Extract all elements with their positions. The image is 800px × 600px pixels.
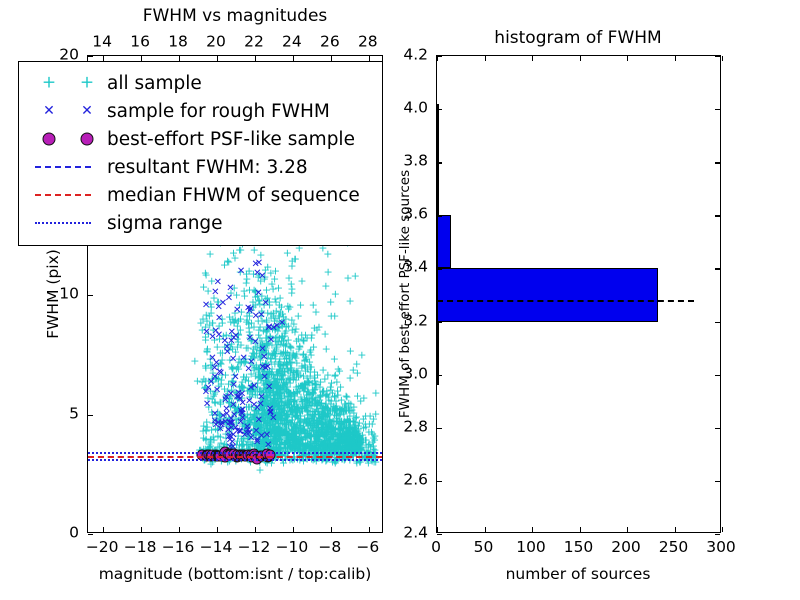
all-sample-point: +	[233, 404, 242, 415]
all-sample-point: +	[309, 388, 318, 399]
all-sample-point: +	[270, 422, 279, 433]
all-sample-point: +	[297, 434, 306, 445]
all-sample-point: +	[296, 420, 305, 431]
all-sample-point: +	[300, 413, 309, 424]
all-sample-point: +	[259, 434, 268, 445]
all-sample-point: +	[262, 340, 271, 351]
all-sample-point: +	[280, 390, 289, 401]
all-sample-point: +	[364, 440, 373, 451]
legend-item-label: median FHWM of sequence	[107, 185, 360, 206]
all-sample-point: +	[200, 382, 209, 393]
all-sample-point: +	[324, 420, 333, 431]
all-sample-point: +	[272, 415, 281, 426]
all-sample-point: +	[303, 439, 312, 450]
all-sample-point: +	[328, 416, 337, 427]
all-sample-point: +	[344, 428, 353, 439]
rough-sample-point: ✕	[212, 359, 220, 369]
all-sample-point: +	[338, 441, 347, 452]
all-sample-point: +	[265, 299, 274, 310]
all-sample-point: +	[307, 332, 316, 343]
all-sample-point: +	[270, 411, 279, 422]
all-sample-point: +	[326, 425, 335, 436]
all-sample-point: +	[235, 300, 244, 311]
all-sample-point: +	[267, 357, 276, 368]
y-tick	[437, 481, 442, 482]
all-sample-point: +	[346, 417, 355, 428]
all-sample-point: +	[261, 345, 270, 356]
all-sample-point: +	[307, 423, 316, 434]
all-sample-point: +	[281, 348, 290, 359]
rough-sample-point: ✕	[243, 429, 251, 439]
all-sample-point: +	[216, 410, 225, 421]
all-sample-point: +	[222, 391, 231, 402]
all-sample-point: +	[281, 413, 290, 424]
all-sample-point: +	[354, 436, 363, 447]
all-sample-point: +	[234, 393, 243, 404]
all-sample-point: +	[276, 360, 285, 371]
all-sample-point: +	[322, 431, 331, 442]
all-sample-point: +	[274, 358, 283, 369]
all-sample-point: +	[278, 368, 287, 379]
all-sample-point: +	[216, 417, 225, 428]
all-sample-point: +	[276, 385, 285, 396]
all-sample-point: +	[271, 348, 280, 359]
all-sample-point: +	[332, 377, 341, 388]
all-sample-point: +	[309, 385, 318, 396]
all-sample-point: +	[264, 377, 273, 388]
all-sample-point: +	[234, 431, 243, 442]
all-sample-point: +	[333, 434, 342, 445]
all-sample-point: +	[334, 425, 343, 436]
all-sample-point: +	[289, 421, 298, 432]
all-sample-point: +	[268, 388, 277, 399]
all-sample-point: +	[336, 440, 345, 451]
all-sample-point: +	[343, 431, 352, 442]
all-sample-point: +	[311, 407, 320, 418]
all-sample-point: +	[318, 404, 327, 415]
all-sample-point: +	[266, 422, 275, 433]
all-sample-point: +	[291, 435, 300, 446]
all-sample-point: +	[285, 395, 294, 406]
all-sample-point: +	[314, 436, 323, 447]
all-sample-point: +	[271, 426, 280, 437]
all-sample-point: +	[259, 383, 268, 394]
all-sample-point: +	[312, 441, 321, 452]
all-sample-point: +	[257, 420, 266, 431]
x-tick-label: −8	[318, 540, 341, 556]
all-sample-point: +	[310, 394, 319, 405]
all-sample-point: +	[276, 426, 285, 437]
all-sample-point: +	[260, 272, 269, 283]
all-sample-point: +	[337, 405, 346, 416]
legend-box[interactable]: ++all sample✕✕sample for rough FWHMbest-…	[18, 61, 383, 246]
legend-item[interactable]: median FHWM of sequence	[29, 181, 372, 209]
all-sample-point: +	[284, 435, 293, 446]
all-sample-point: +	[262, 316, 271, 327]
all-sample-point: +	[305, 409, 314, 420]
all-sample-point: +	[285, 441, 294, 452]
all-sample-point: +	[342, 435, 351, 446]
all-sample-point: +	[317, 436, 326, 447]
all-sample-point: +	[295, 439, 304, 450]
all-sample-point: +	[275, 429, 284, 440]
all-sample-point: +	[346, 433, 355, 444]
all-sample-point: +	[277, 398, 286, 409]
all-sample-point: +	[349, 445, 358, 456]
all-sample-point: +	[269, 416, 278, 427]
all-sample-point: +	[318, 421, 327, 432]
all-sample-point: +	[272, 382, 281, 393]
all-sample-point: +	[280, 406, 289, 417]
all-sample-point: +	[321, 329, 330, 340]
all-sample-point: +	[314, 397, 323, 408]
all-sample-point: +	[255, 429, 264, 440]
all-sample-point: +	[240, 411, 249, 422]
all-sample-point: +	[248, 385, 257, 396]
all-sample-point: +	[271, 324, 280, 335]
rough-sample-point: ✕	[219, 412, 227, 422]
y-tick	[437, 375, 442, 376]
histogram-axes[interactable]	[436, 55, 721, 533]
all-sample-point: +	[214, 380, 223, 391]
all-sample-point: +	[350, 422, 359, 433]
all-sample-point: +	[271, 435, 280, 446]
all-sample-point: +	[262, 409, 271, 420]
all-sample-point: +	[236, 314, 245, 325]
rough-sample-point: ✕	[218, 419, 226, 429]
rough-sample-point: ✕	[203, 400, 211, 410]
all-sample-point: +	[211, 398, 220, 409]
all-sample-point: +	[251, 371, 260, 382]
all-sample-point: +	[319, 364, 328, 375]
rough-sample-point: ✕	[215, 314, 223, 324]
all-sample-point: +	[308, 386, 317, 397]
all-sample-point: +	[280, 427, 289, 438]
all-sample-point: +	[287, 352, 296, 363]
all-sample-point: +	[273, 425, 282, 436]
all-sample-point: +	[261, 384, 270, 395]
all-sample-point: +	[313, 435, 322, 446]
rough-sample-point: ✕	[237, 418, 245, 428]
all-sample-point: +	[351, 412, 360, 423]
rough-sample-point: ✕	[261, 299, 269, 309]
rough-sample-point: ✕	[247, 434, 255, 444]
all-sample-point: +	[229, 398, 238, 409]
all-sample-point: +	[266, 409, 275, 420]
all-sample-point: +	[304, 376, 313, 387]
all-sample-point: +	[201, 381, 210, 392]
all-sample-point: +	[313, 416, 322, 427]
all-sample-point: +	[286, 440, 295, 451]
all-sample-point: +	[313, 432, 322, 443]
rough-sample-point: ✕	[257, 432, 265, 442]
all-sample-point: +	[252, 417, 261, 428]
rough-sample-point: ✕	[217, 369, 225, 379]
all-sample-point: +	[333, 385, 342, 396]
all-sample-point: +	[351, 420, 360, 431]
all-sample-point: +	[292, 382, 301, 393]
all-sample-point: +	[354, 423, 363, 434]
y-tick-label: 4.2	[403, 47, 428, 63]
plus-marker-icon: ++	[29, 72, 107, 94]
all-sample-point: +	[289, 396, 298, 407]
all-sample-point: +	[263, 398, 272, 409]
all-sample-point: +	[287, 279, 296, 290]
all-sample-point: +	[346, 419, 355, 430]
all-sample-point: +	[267, 367, 276, 378]
all-sample-point: +	[255, 296, 264, 307]
all-sample-point: +	[261, 370, 270, 381]
all-sample-point: +	[317, 420, 326, 431]
all-sample-point: +	[205, 441, 214, 452]
reference-line	[88, 452, 382, 454]
all-sample-point: +	[365, 419, 374, 430]
all-sample-point: +	[250, 411, 259, 422]
all-sample-point: +	[251, 291, 260, 302]
all-sample-point: +	[327, 439, 336, 450]
x-tick-label: −10	[276, 540, 309, 556]
all-sample-point: +	[265, 421, 274, 432]
all-sample-point: +	[265, 379, 274, 390]
rough-sample-point: ✕	[229, 431, 237, 441]
all-sample-point: +	[218, 347, 227, 358]
all-sample-point: +	[230, 252, 239, 263]
all-sample-point: +	[277, 302, 286, 313]
rough-sample-point: ✕	[222, 393, 230, 403]
all-sample-point: +	[345, 435, 354, 446]
all-sample-point: +	[289, 397, 298, 408]
all-sample-point: +	[289, 367, 298, 378]
legend-item[interactable]: ✕✕sample for rough FWHM	[29, 97, 372, 125]
all-sample-point: +	[330, 391, 339, 402]
rough-sample-point: ✕	[247, 358, 255, 368]
all-sample-point: +	[240, 418, 249, 429]
all-sample-point: +	[309, 415, 318, 426]
all-sample-point: +	[334, 434, 343, 445]
all-sample-point: +	[256, 275, 265, 286]
all-sample-point: +	[351, 445, 360, 456]
histogram-bar	[437, 268, 658, 321]
all-sample-point: +	[279, 400, 288, 411]
all-sample-point: +	[216, 431, 225, 442]
all-sample-point: +	[325, 435, 334, 446]
all-sample-point: +	[268, 416, 277, 427]
all-sample-point: +	[344, 398, 353, 409]
all-sample-point: +	[301, 417, 310, 428]
all-sample-point: +	[281, 395, 290, 406]
all-sample-point: +	[262, 399, 271, 410]
all-sample-point: +	[344, 431, 353, 442]
all-sample-point: +	[270, 359, 279, 370]
all-sample-point: +	[285, 440, 294, 451]
dashdot-line-icon	[35, 222, 91, 224]
all-sample-point: +	[316, 441, 325, 452]
all-sample-point: +	[367, 426, 376, 437]
all-sample-point: +	[297, 432, 306, 443]
all-sample-point: +	[254, 372, 263, 383]
all-sample-point: +	[242, 278, 251, 289]
all-sample-point: +	[299, 371, 308, 382]
all-sample-point: +	[226, 391, 235, 402]
all-sample-point: +	[315, 434, 324, 445]
all-sample-point: +	[290, 428, 299, 439]
all-sample-point: +	[265, 423, 274, 434]
legend-item[interactable]: resultant FWHM: 3.28	[29, 153, 372, 181]
all-sample-point: +	[347, 441, 356, 452]
y-tick-label: 3.0	[403, 366, 428, 382]
all-sample-point: +	[257, 416, 266, 427]
all-sample-point: +	[277, 424, 286, 435]
all-sample-point: +	[213, 442, 222, 453]
legend-item[interactable]: sigma range	[29, 209, 372, 237]
all-sample-point: +	[246, 330, 255, 341]
all-sample-point: +	[273, 325, 282, 336]
rough-sample-point: ✕	[223, 348, 231, 358]
all-sample-point: +	[298, 435, 307, 446]
all-sample-point: +	[244, 386, 253, 397]
all-sample-point: +	[259, 436, 268, 447]
all-sample-point: +	[310, 375, 319, 386]
all-sample-point: +	[362, 442, 371, 453]
all-sample-point: +	[289, 401, 298, 412]
rough-sample-point: ✕	[261, 373, 269, 383]
all-sample-point: +	[283, 435, 292, 446]
all-sample-point: +	[262, 315, 271, 326]
all-sample-point: +	[218, 318, 227, 329]
all-sample-point: +	[355, 435, 364, 446]
all-sample-point: +	[210, 397, 219, 408]
all-sample-point: +	[249, 429, 258, 440]
all-sample-point: +	[257, 398, 266, 409]
all-sample-point: +	[356, 436, 365, 447]
all-sample-point: +	[261, 434, 270, 445]
all-sample-point: +	[206, 441, 215, 452]
all-sample-point: +	[276, 387, 285, 398]
all-sample-point: +	[245, 333, 254, 344]
y-tick	[437, 534, 442, 535]
rough-sample-point: ✕	[235, 389, 243, 399]
all-sample-point: +	[315, 409, 324, 420]
all-sample-point: +	[347, 441, 356, 452]
all-sample-point: +	[275, 389, 284, 400]
all-sample-point: +	[222, 440, 231, 451]
all-sample-point: +	[289, 437, 298, 448]
all-sample-point: +	[272, 315, 281, 326]
all-sample-point: +	[344, 405, 353, 416]
all-sample-point: +	[353, 368, 362, 379]
all-sample-point: +	[263, 370, 272, 381]
all-sample-point: +	[241, 374, 250, 385]
all-sample-point: +	[275, 395, 284, 406]
all-sample-point: +	[227, 330, 236, 341]
all-sample-point: +	[237, 306, 246, 317]
all-sample-point: +	[271, 411, 280, 422]
all-sample-point: +	[302, 395, 311, 406]
all-sample-point: +	[247, 438, 256, 449]
all-sample-point: +	[240, 357, 249, 368]
all-sample-point: +	[246, 384, 255, 395]
all-sample-point: +	[296, 392, 305, 403]
all-sample-point: +	[247, 304, 256, 315]
legend-item[interactable]: best-effort PSF-like sample	[29, 125, 372, 153]
all-sample-point: +	[291, 254, 300, 265]
all-sample-point: +	[222, 417, 231, 428]
legend-item[interactable]: ++all sample	[29, 69, 372, 97]
all-sample-point: +	[248, 335, 257, 346]
all-sample-point: +	[316, 427, 325, 438]
all-sample-point: +	[338, 426, 347, 437]
all-sample-point: +	[237, 405, 246, 416]
all-sample-point: +	[307, 432, 316, 443]
all-sample-point: +	[295, 439, 304, 450]
all-sample-point: +	[261, 397, 270, 408]
all-sample-point: +	[256, 343, 265, 354]
all-sample-point: +	[332, 417, 341, 428]
all-sample-point: +	[272, 386, 281, 397]
all-sample-point: +	[348, 438, 357, 449]
all-sample-point: +	[272, 430, 281, 441]
all-sample-point: +	[232, 363, 241, 374]
all-sample-point: +	[265, 296, 274, 307]
all-sample-point: +	[299, 420, 308, 431]
all-sample-point: +	[264, 437, 273, 448]
all-sample-point: +	[335, 429, 344, 440]
all-sample-point: +	[261, 413, 270, 424]
all-sample-point: +	[274, 403, 283, 414]
all-sample-point: +	[343, 273, 352, 284]
all-sample-point: +	[282, 384, 291, 395]
all-sample-point: +	[239, 372, 248, 383]
all-sample-point: +	[257, 347, 266, 358]
all-sample-point: +	[269, 393, 278, 404]
all-sample-point: +	[292, 411, 301, 422]
all-sample-point: +	[286, 407, 295, 418]
all-sample-point: +	[283, 399, 292, 410]
all-sample-point: +	[300, 425, 309, 436]
all-sample-point: +	[266, 441, 275, 452]
all-sample-point: +	[349, 427, 358, 438]
all-sample-point: +	[201, 270, 210, 281]
all-sample-point: +	[308, 388, 317, 399]
all-sample-point: +	[285, 341, 294, 352]
all-sample-point: +	[279, 340, 288, 351]
all-sample-point: +	[281, 420, 290, 431]
rough-sample-point: ✕	[227, 337, 235, 347]
all-sample-point: +	[198, 314, 207, 325]
all-sample-point: +	[344, 402, 353, 413]
all-sample-point: +	[260, 415, 269, 426]
all-sample-point: +	[281, 438, 290, 449]
all-sample-point: +	[342, 438, 351, 449]
all-sample-point: +	[274, 418, 283, 429]
y-tick-label: 5	[69, 406, 79, 422]
all-sample-point: +	[249, 268, 258, 279]
all-sample-point: +	[336, 434, 345, 445]
all-sample-point: +	[370, 430, 379, 441]
all-sample-point: +	[262, 353, 271, 364]
rough-sample-point: ✕	[202, 388, 210, 398]
cross-marker-icon: ✕✕	[29, 100, 107, 122]
all-sample-point: +	[275, 423, 284, 434]
all-sample-point: +	[201, 267, 210, 278]
rough-sample-point: ✕	[207, 378, 215, 388]
all-sample-point: +	[327, 430, 336, 441]
all-sample-point: +	[258, 395, 267, 406]
all-sample-point: +	[257, 372, 266, 383]
all-sample-point: +	[247, 317, 256, 328]
all-sample-point: +	[297, 363, 306, 374]
all-sample-point: +	[317, 398, 326, 409]
